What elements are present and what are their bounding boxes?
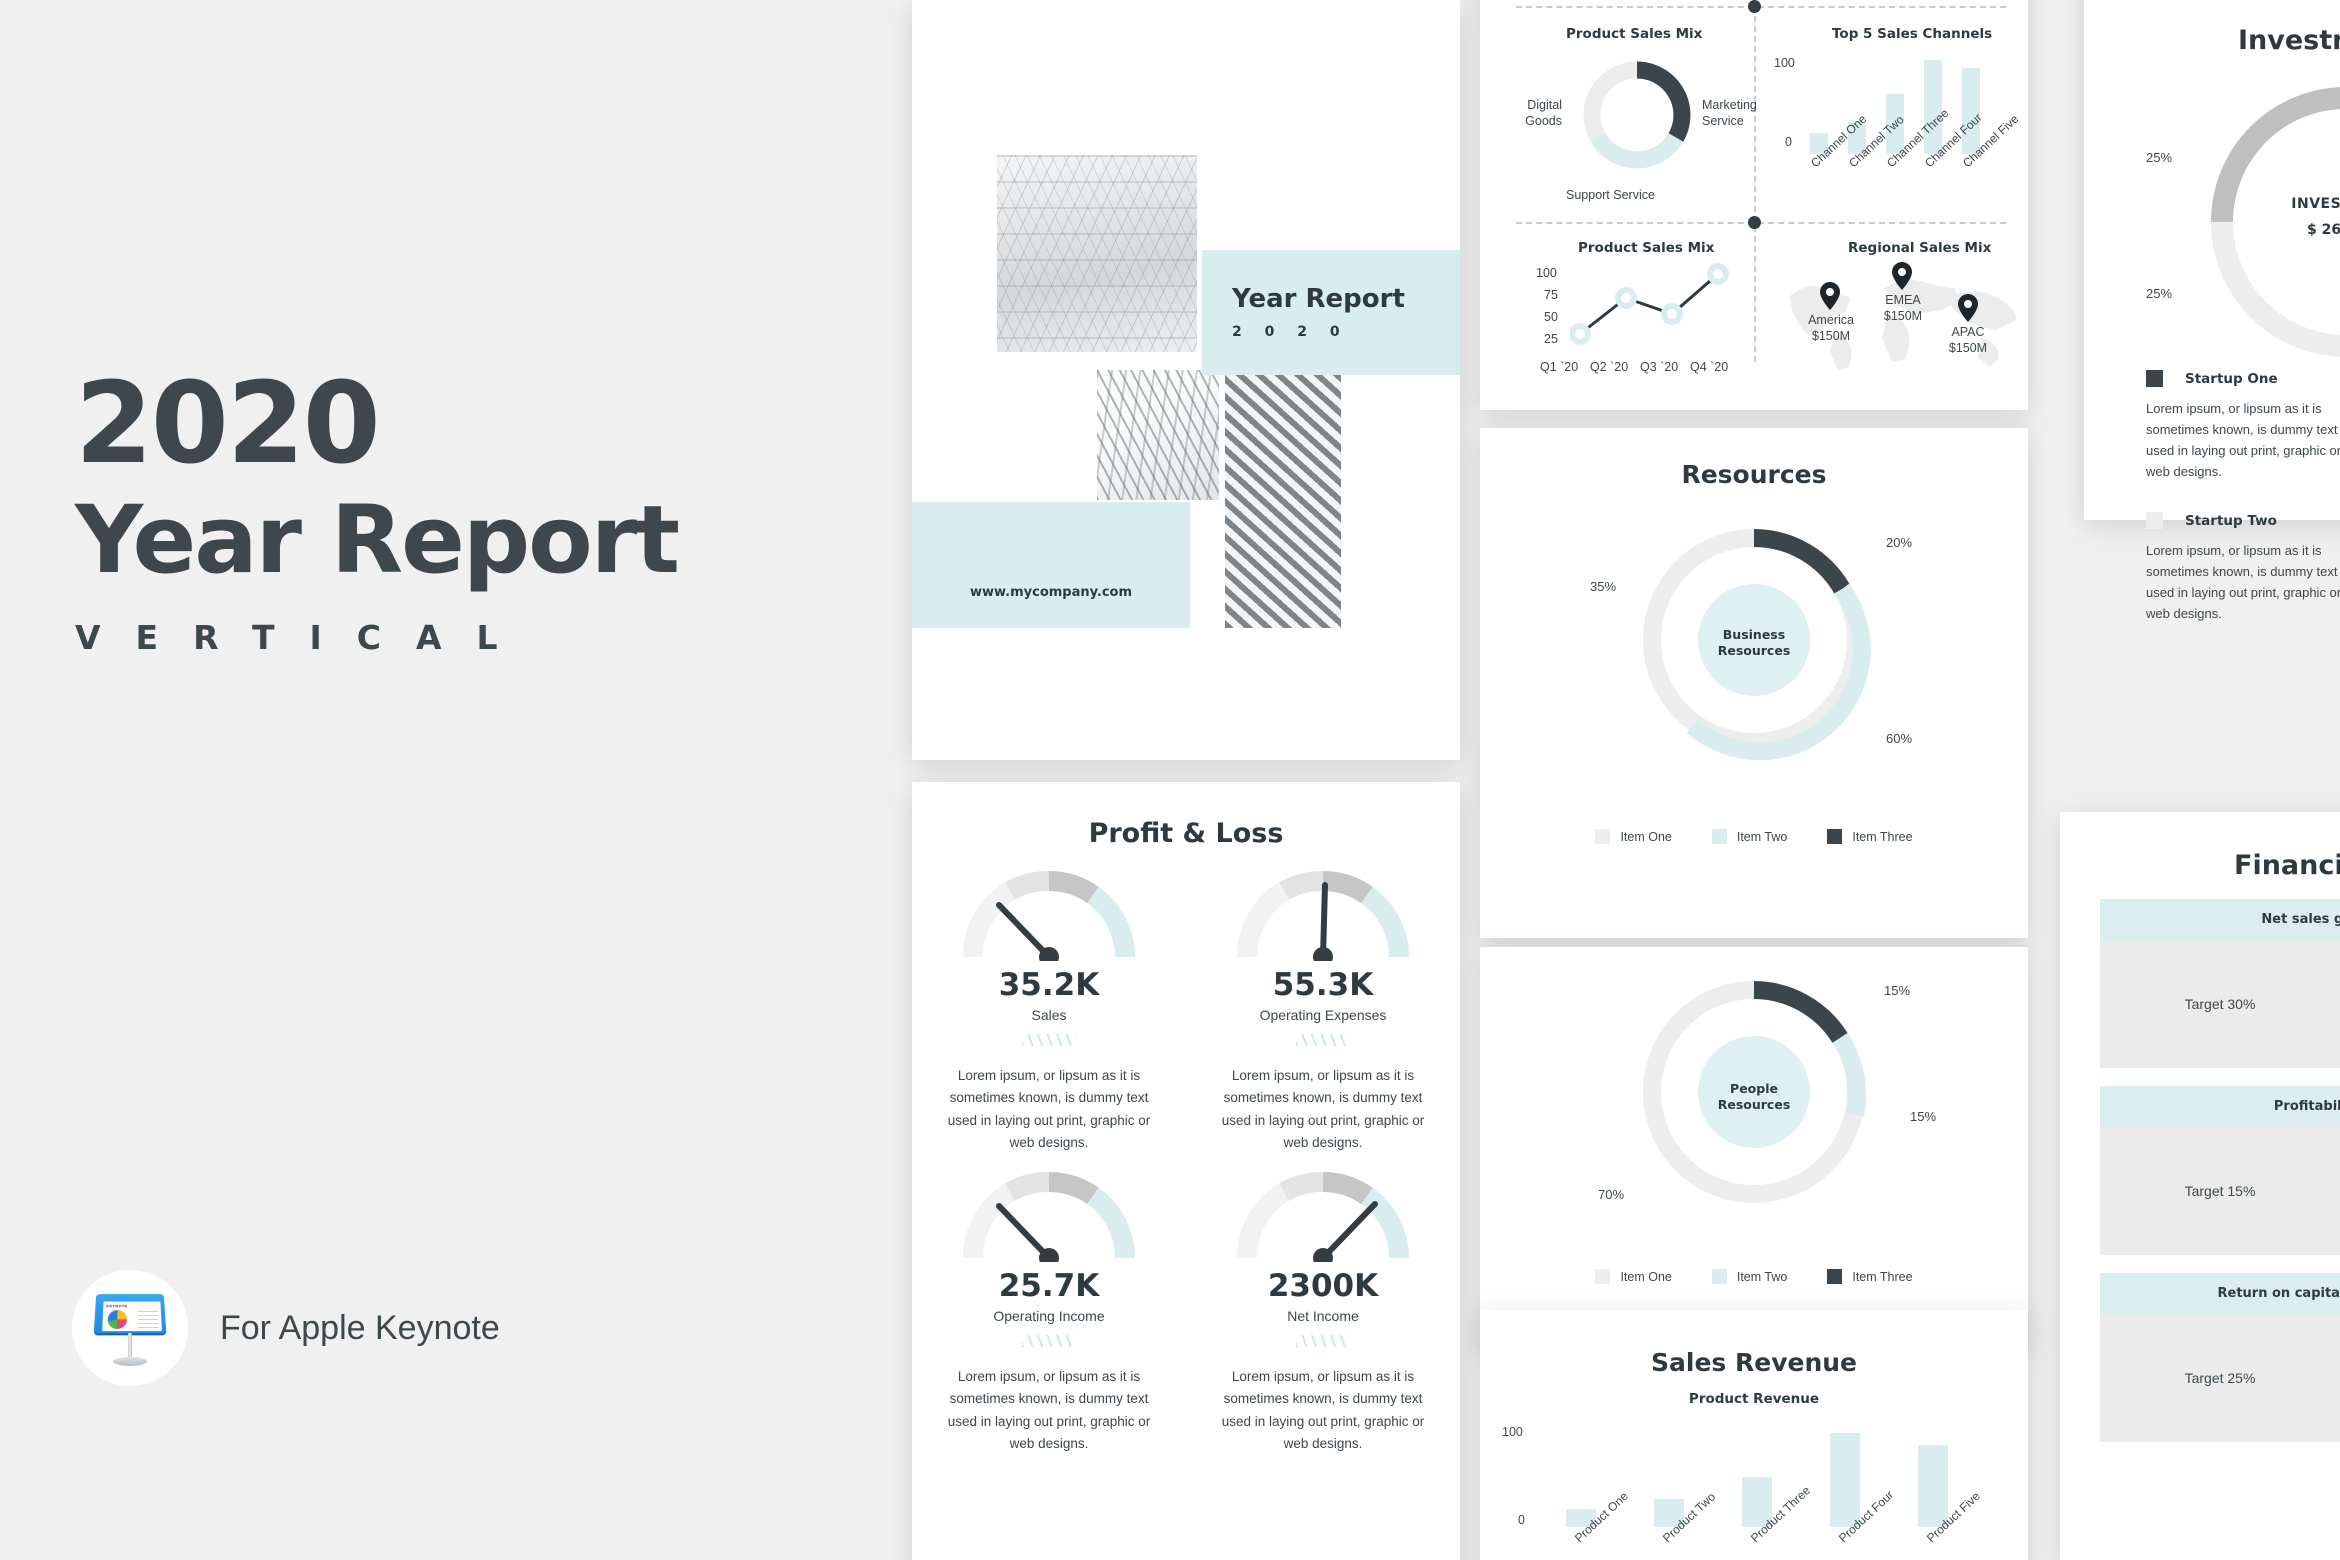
sales-revenue-title: Sales Revenue <box>1480 1310 2028 1377</box>
startup-two-block: Startup Two Lorem ipsum, or lipsum as it… <box>2146 512 2340 624</box>
dashboard-node-bottom <box>1748 216 1761 229</box>
region-value-apac: $150M <box>1949 341 1987 355</box>
gauge-net-income <box>1237 1172 1409 1262</box>
hatch-divider <box>1296 1335 1350 1347</box>
axis-tick-50: 50 <box>1544 310 1558 324</box>
region-name-america: America <box>1808 313 1854 327</box>
panel-title-product-sales-mix-donut: Product Sales Mix <box>1566 26 1702 42</box>
cover-title-group: Year Report 2 0 2 0 <box>1232 284 1405 340</box>
axis-tick-75: 75 <box>1544 288 1558 302</box>
legend-swatch-icon <box>1595 1269 1610 1284</box>
gauge-label: Net Income <box>1186 1308 1460 1324</box>
financial-row-target: Target 15% <box>2100 1183 2340 1199</box>
dashboard-node-top <box>1748 0 1761 13</box>
startup-one-body: Lorem ipsum, or lipsum as it is sometime… <box>2146 398 2340 482</box>
startup-two-body: Lorem ipsum, or lipsum as it is sometime… <box>2146 540 2340 624</box>
ring-label-20: 20% <box>1886 535 1912 550</box>
axis-tick-100: 100 <box>1536 266 1557 280</box>
investment-pct-bottom: 25% <box>2146 286 2172 301</box>
keynote-text-line <box>138 1311 158 1312</box>
business-resources-chart: 20% 35% 60% BusinessResources <box>1480 489 2028 819</box>
gauge-description: Lorem ipsum, or lipsum as it is sometime… <box>942 1366 1157 1455</box>
axis-tick-top5-max: 100 <box>1774 56 1795 70</box>
gauge-description: Lorem ipsum, or lipsum as it is sometime… <box>942 1065 1157 1154</box>
gauge-card: 2300K Net Income Lorem ipsum, or lipsum … <box>1186 1172 1460 1455</box>
financial-row-header: Profitabili <box>2100 1086 2340 1127</box>
hatch-divider <box>1296 1034 1350 1046</box>
legend-label: Item Two <box>1737 830 1787 844</box>
legend-swatch-icon <box>1712 1269 1727 1284</box>
legend-item-two: Item Two <box>1712 1269 1787 1284</box>
ring-label-15-top: 15% <box>1884 983 1910 998</box>
gauge-value: 2300K <box>1186 1268 1460 1304</box>
region-value-emea: $150M <box>1884 309 1922 323</box>
ring-center-label-people: PeopleResources <box>1694 1081 1814 1112</box>
panel-title-product-sales-mix-line: Product Sales Mix <box>1578 240 1714 256</box>
legend-swatch-icon <box>1827 1269 1842 1284</box>
cover-title: Year Report <box>1232 284 1405 314</box>
map-pin-icon <box>1958 294 1978 322</box>
gauge-value: 55.3K <box>1186 967 1460 1003</box>
hatch-divider <box>1022 1034 1076 1046</box>
donut-product-sales-mix <box>1578 56 1696 174</box>
resources-legend: Item One Item Two Item Three <box>1480 829 2028 844</box>
region-name-apac: APAC <box>1951 325 1984 339</box>
keynote-icon: KEYNOTE <box>93 1289 167 1367</box>
dashboard-divider-top <box>1516 6 2006 8</box>
cover-footer-band <box>912 502 1190 628</box>
investment-center-label: INVESTED FU <box>2256 196 2340 212</box>
investment-pct-top: 25% <box>2146 150 2172 165</box>
axis-tick-q1: Q1 `20 <box>1540 360 1578 374</box>
gauge-value: 25.7K <box>912 1268 1186 1304</box>
startup-one-name: Startup One <box>2185 371 2278 387</box>
keynote-slide-icon: KEYNOTE <box>102 1302 162 1332</box>
gauge-card: 25.7K Operating Income Lorem ipsum, or l… <box>912 1172 1186 1455</box>
investment-title: Investm <box>2084 0 2340 56</box>
gauge-operating-income <box>963 1172 1135 1262</box>
financial-row: Target 30% <box>2100 940 2340 1068</box>
financial-row: Target 15% $ <box>2100 1127 2340 1255</box>
hatch-divider <box>1022 1335 1076 1347</box>
cover-photo-architecture <box>1225 370 1341 628</box>
startup-one-block: Startup One Lorem ipsum, or lipsum as it… <box>2146 370 2340 482</box>
legend-item-one: Item One <box>1595 829 1671 844</box>
keynote-badge: KEYNOTE <box>72 1270 188 1386</box>
startup-swatch-icon <box>2146 512 2163 529</box>
dashboard-divider-vertical <box>1754 6 1756 362</box>
slide-resources[interactable]: Resources 20% 35% 60% BusinessResources … <box>1480 428 2028 938</box>
gauge-description: Lorem ipsum, or lipsum as it is sometime… <box>1216 1065 1431 1154</box>
cover-photo-plant <box>1097 370 1219 500</box>
presentation-preview-canvas: 2020 Year Report VERTICAL KEYNOTE <box>0 0 2340 1560</box>
axis-tick-q4: Q4 `20 <box>1690 360 1728 374</box>
people-resources-chart: 15% 15% 70% PeopleResources <box>1480 947 2028 1269</box>
gauge-card: 55.3K Operating Expenses Lorem ipsum, or… <box>1186 871 1460 1154</box>
legend-label: Item Three <box>1852 1270 1912 1284</box>
cover-photo-building <box>997 155 1197 352</box>
gauge-label: Operating Income <box>912 1308 1186 1324</box>
legend-swatch-icon <box>1712 829 1727 844</box>
slide-cover[interactable]: Year Report 2 0 2 0 www.mycompany.com <box>912 0 1460 760</box>
gauge-card: 35.2K Sales Lorem ipsum, or lipsum as it… <box>912 871 1186 1154</box>
donut-label-support-service: Support Service <box>1566 188 1655 204</box>
keynote-text-line <box>138 1323 158 1324</box>
investment-center-group: INVESTED FU $ 268 000 <box>2256 196 2340 238</box>
hero-footer: KEYNOTE For Apple Keynote <box>72 1270 500 1386</box>
cover-url: www.mycompany.com <box>912 585 1190 600</box>
slide-sales-revenue[interactable]: Sales Revenue Product Revenue 100 0 Prod… <box>1480 1310 2028 1560</box>
keynote-pie-icon <box>107 1310 127 1329</box>
line-chart-product-sales-mix <box>1570 262 1730 352</box>
donut-label-digital-goods: DigitalGoods <box>1500 98 1562 129</box>
financial-row: Target 25% <box>2100 1314 2340 1442</box>
startup-one-header: Startup One <box>2146 370 2340 387</box>
gauge-label: Sales <box>912 1007 1186 1023</box>
axis-tick-top5-min: 0 <box>1785 135 1792 149</box>
startup-two-name: Startup Two <box>2185 513 2277 529</box>
hero-year: 2020 <box>75 368 678 480</box>
slide-resources-people[interactable]: 15% 15% 70% PeopleResources Item One Ite… <box>1480 947 2028 1347</box>
slide-investment[interactable]: Investm INVESTED FU $ 268 000 25% 25% St… <box>2084 0 2340 520</box>
region-name-emea: EMEA <box>1885 293 1920 307</box>
financial-row-target: Target 25% <box>2100 1370 2340 1386</box>
keynote-stand-icon <box>128 1333 132 1359</box>
dashboard-divider-bottom <box>1516 222 2006 224</box>
ring-label-70: 70% <box>1598 1187 1624 1202</box>
startup-swatch-icon <box>2146 370 2163 387</box>
bar-channel-five <box>1962 68 1980 154</box>
axis-tick-q2: Q2 `20 <box>1590 360 1628 374</box>
legend-label: Item One <box>1620 1270 1671 1284</box>
profit-loss-title: Profit & Loss <box>912 782 1460 849</box>
keynote-text-line <box>138 1327 159 1328</box>
panel-title-regional-sales-mix: Regional Sales Mix <box>1848 240 1991 256</box>
slide-financial-targets[interactable]: Financial T Net sales gro Target 30% <box>2060 812 2340 1560</box>
hero-footer-label: For Apple Keynote <box>220 1309 500 1348</box>
people-resources-legend: Item One Item Two Item Three <box>1480 1269 2028 1284</box>
legend-item-two: Item Two <box>1712 829 1787 844</box>
bar-product-five <box>1918 1445 1948 1527</box>
slide-sales-dashboard[interactable]: Product Sales Mix DigitalGoods Marketing… <box>1480 0 2028 410</box>
axis-tick-q3: Q3 `20 <box>1640 360 1678 374</box>
gauge-value: 35.2K <box>912 967 1186 1003</box>
hero-title-group: 2020 Year Report VERTICAL <box>75 368 678 657</box>
keynote-wordmark: KEYNOTE <box>106 1303 127 1308</box>
keynote-base-icon <box>113 1357 147 1366</box>
gauge-grid: 35.2K Sales Lorem ipsum, or lipsum as it… <box>912 871 1460 1455</box>
financial-row-header: Net sales gro <box>2100 899 2340 940</box>
financial-row-target: Target 30% <box>2100 996 2340 1012</box>
gauge-description: Lorem ipsum, or lipsum as it is sometime… <box>1216 1366 1431 1455</box>
keynote-screen-icon: KEYNOTE <box>94 1294 167 1333</box>
panel-title-top5-channels: Top 5 Sales Channels <box>1832 26 1992 42</box>
legend-swatch-icon <box>1827 829 1842 844</box>
legend-item-three: Item Three <box>1827 1269 1912 1284</box>
gauge-label: Operating Expenses <box>1186 1007 1460 1023</box>
financial-targets-title: Financial T <box>2060 812 2340 881</box>
legend-item-three: Item Three <box>1827 829 1912 844</box>
axis-tick-revenue-min: 0 <box>1518 1513 1525 1527</box>
gauge-operating-expenses <box>1237 871 1409 961</box>
ring-center-label-business: BusinessResources <box>1694 627 1814 658</box>
startup-two-header: Startup Two <box>2146 512 2340 529</box>
legend-label: Item Two <box>1737 1270 1787 1284</box>
ring-label-15-right: 15% <box>1910 1109 1936 1124</box>
map-pin-icon <box>1820 282 1840 310</box>
resources-title: Resources <box>1480 428 2028 489</box>
map-pin-icon <box>1892 262 1912 290</box>
donut-label-marketing-service: MarketingService <box>1702 98 1757 129</box>
legend-item-one: Item One <box>1595 1269 1671 1284</box>
sales-revenue-subtitle: Product Revenue <box>1480 1391 2028 1407</box>
ring-label-35: 35% <box>1590 579 1616 594</box>
hero-subtitle: Year Report <box>75 490 678 592</box>
cover-year: 2 0 2 0 <box>1232 324 1405 340</box>
legend-swatch-icon <box>1595 829 1610 844</box>
hero-kicker: VERTICAL <box>75 618 678 657</box>
slide-profit-loss[interactable]: Profit & Loss 35.2K Sales Lo <box>912 782 1460 1560</box>
investment-center-value: $ 268 000 <box>2256 222 2340 238</box>
legend-label: Item One <box>1620 830 1671 844</box>
investment-chart: INVESTED FU $ 268 000 25% 25% <box>2084 56 2340 356</box>
keynote-text-line <box>138 1315 158 1316</box>
gauge-sales <box>963 871 1135 961</box>
axis-tick-25: 25 <box>1544 332 1558 346</box>
region-value-america: $150M <box>1812 329 1850 343</box>
ring-label-60: 60% <box>1886 731 1912 746</box>
keynote-text-line <box>138 1319 158 1320</box>
legend-label: Item Three <box>1852 830 1912 844</box>
hero-panel: 2020 Year Report VERTICAL KEYNOTE <box>0 0 912 1560</box>
axis-tick-revenue-max: 100 <box>1502 1425 1523 1439</box>
financial-row-header: Return on capital employ <box>2100 1273 2340 1314</box>
bar-product-four <box>1830 1433 1860 1527</box>
